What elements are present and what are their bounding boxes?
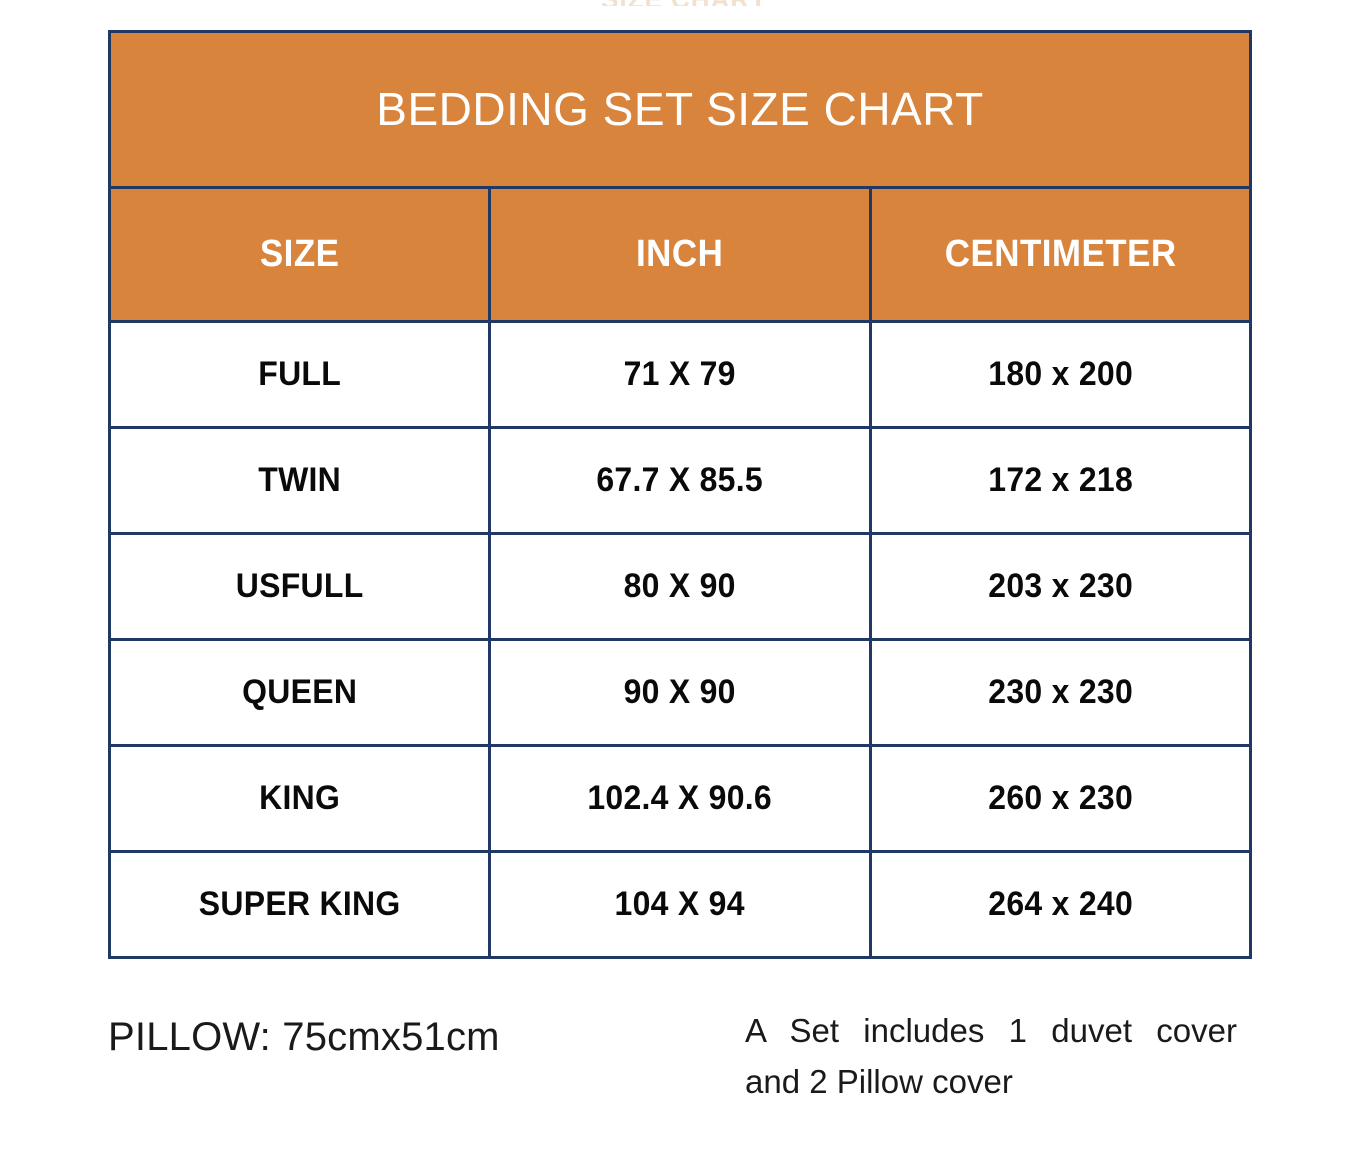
cell-inch: 102.4 X 90.6 <box>490 746 870 852</box>
cell-inch: 104 X 94 <box>490 852 870 958</box>
footer-notes: PILLOW: 75cmx51cm A Set includes 1 duvet… <box>0 985 1368 1135</box>
column-header-size-label: SIZE <box>126 233 473 276</box>
cell-inch: 71 X 79 <box>490 322 870 428</box>
table-title-row: BEDDING SET SIZE CHART <box>110 32 1251 188</box>
cell-centimeter-value: 180 x 200 <box>883 355 1238 394</box>
cell-inch-value: 90 X 90 <box>503 673 858 712</box>
table-row: QUEEN 90 X 90 230 x 230 <box>110 640 1251 746</box>
cell-centimeter-value: 264 x 240 <box>883 885 1238 924</box>
cell-centimeter: 264 x 240 <box>870 852 1250 958</box>
cell-size: SUPER KING <box>110 852 490 958</box>
table-row: SUPER KING 104 X 94 264 x 240 <box>110 852 1251 958</box>
cell-inch: 90 X 90 <box>490 640 870 746</box>
cell-inch-value: 104 X 94 <box>503 885 858 924</box>
column-header-centimeter-label: CENTIMETER <box>887 233 1234 276</box>
cell-size: QUEEN <box>110 640 490 746</box>
cell-centimeter-value: 260 x 230 <box>883 779 1238 818</box>
table-row: KING 102.4 X 90.6 260 x 230 <box>110 746 1251 852</box>
cropped-top-text: SIZE CHART <box>0 0 1368 6</box>
table-header-row: SIZE INCH CENTIMETER <box>110 188 1251 322</box>
page-title: BEDDING SET SIZE CHART <box>111 84 1249 135</box>
cell-centimeter: 230 x 230 <box>870 640 1250 746</box>
pillow-size-note: PILLOW: 75cmx51cm <box>108 1015 708 1060</box>
cell-size-value: USFULL <box>122 567 477 606</box>
cell-inch-value: 67.7 X 85.5 <box>503 461 858 500</box>
set-contents-note-line1: A Set includes 1 duvet cover <box>745 1005 1237 1056</box>
bedding-size-chart-table: BEDDING SET SIZE CHART SIZE INCH CENTIME… <box>108 30 1252 959</box>
cell-centimeter-value: 230 x 230 <box>883 673 1238 712</box>
set-contents-note-line2: and 2 Pillow cover <box>745 1056 1237 1107</box>
cell-centimeter: 172 x 218 <box>870 428 1250 534</box>
cell-size-value: FULL <box>122 355 477 394</box>
cell-inch-value: 71 X 79 <box>503 355 858 394</box>
cell-inch: 67.7 X 85.5 <box>490 428 870 534</box>
set-contents-note: A Set includes 1 duvet cover and 2 Pillo… <box>745 1005 1237 1107</box>
chart-title-cell: BEDDING SET SIZE CHART <box>110 32 1251 188</box>
cell-inch: 80 X 90 <box>490 534 870 640</box>
cell-size: TWIN <box>110 428 490 534</box>
cell-centimeter-value: 203 x 230 <box>883 567 1238 606</box>
cell-centimeter: 180 x 200 <box>870 322 1250 428</box>
table-row: FULL 71 X 79 180 x 200 <box>110 322 1251 428</box>
column-header-inch-label: INCH <box>506 233 853 276</box>
cell-size-value: QUEEN <box>122 673 477 712</box>
cell-size: FULL <box>110 322 490 428</box>
cell-size-value: TWIN <box>122 461 477 500</box>
cell-centimeter-value: 172 x 218 <box>883 461 1238 500</box>
cell-inch-value: 102.4 X 90.6 <box>503 779 858 818</box>
cell-size: USFULL <box>110 534 490 640</box>
cell-inch-value: 80 X 90 <box>503 567 858 606</box>
cell-centimeter: 260 x 230 <box>870 746 1250 852</box>
table-row: TWIN 67.7 X 85.5 172 x 218 <box>110 428 1251 534</box>
cell-centimeter: 203 x 230 <box>870 534 1250 640</box>
cell-size-value: SUPER KING <box>122 885 477 924</box>
column-header-inch: INCH <box>490 188 870 322</box>
column-header-size: SIZE <box>110 188 490 322</box>
cell-size: KING <box>110 746 490 852</box>
table-row: USFULL 80 X 90 203 x 230 <box>110 534 1251 640</box>
column-header-centimeter: CENTIMETER <box>870 188 1250 322</box>
cell-size-value: KING <box>122 779 477 818</box>
